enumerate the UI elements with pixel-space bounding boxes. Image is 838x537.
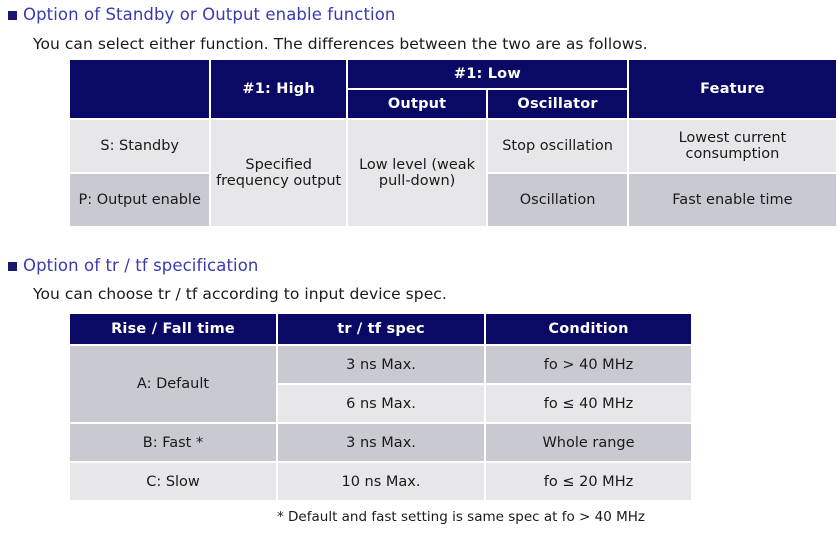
cell-low-oscillator-output-enable: Oscillation: [488, 174, 627, 226]
table-header: #1: High #1: Low Feature Output Oscillat…: [70, 60, 836, 118]
cell-condition-default-low: fo ≤ 40 MHz: [486, 385, 691, 422]
section-subtitle-standby: You can select either function. The diff…: [33, 35, 648, 53]
section-heading-label: Option of tr / tf specification: [23, 256, 258, 275]
header-tr-tf-spec: tr / tf spec: [278, 314, 484, 344]
table-body: S: Standby Specified frequency output Lo…: [70, 120, 836, 226]
cell-high-standby: Specified frequency output: [211, 120, 346, 226]
cell-rise-fall-slow: C: Slow: [70, 463, 276, 500]
slide-page: Option of Standby or Output enable funct…: [0, 0, 838, 537]
section-heading-trtf: Option of tr / tf specification: [8, 256, 258, 275]
table-row: C: Slow 10 ns Max. fo ≤ 20 MHz: [70, 463, 691, 500]
header-low-group: #1: Low: [348, 60, 627, 88]
header-high: #1: High: [211, 60, 346, 118]
standby-output-enable-table: #1: High #1: Low Feature Output Oscillat…: [68, 58, 838, 228]
section-heading-label: Option of Standby or Output enable funct…: [23, 5, 396, 24]
cell-spec-default-low: 6 ns Max.: [278, 385, 484, 422]
cell-rise-fall-default: A: Default: [70, 346, 276, 422]
table-header: Rise / Fall time tr / tf spec Condition: [70, 314, 691, 344]
table-body: A: Default 3 ns Max. fo > 40 MHz 6 ns Ma…: [70, 346, 691, 500]
square-bullet-icon: [8, 11, 17, 20]
cell-low-output-standby: Low level (weak pull-down): [348, 120, 486, 226]
cell-condition-fast: Whole range: [486, 424, 691, 461]
header-blank: [70, 60, 209, 118]
header-low-output: Output: [348, 90, 486, 118]
square-bullet-icon: [8, 262, 17, 271]
cell-condition-default-high: fo > 40 MHz: [486, 346, 691, 383]
footnote-text: * Default and fast setting is same spec …: [277, 509, 645, 525]
cell-spec-slow: 10 ns Max.: [278, 463, 484, 500]
header-rise-fall-time: Rise / Fall time: [70, 314, 276, 344]
section-subtitle-trtf: You can choose tr / tf according to inpu…: [33, 285, 447, 303]
table-row: A: Default 3 ns Max. fo > 40 MHz: [70, 346, 691, 383]
cell-spec-fast: 3 ns Max.: [278, 424, 484, 461]
header-condition: Condition: [486, 314, 691, 344]
rise-fall-time-table: Rise / Fall time tr / tf spec Condition …: [68, 312, 693, 502]
table-row: S: Standby Specified frequency output Lo…: [70, 120, 836, 172]
table-header-row-1: #1: High #1: Low Feature: [70, 60, 836, 88]
header-low-oscillator: Oscillator: [488, 90, 627, 118]
cell-feature-output-enable: Fast enable time: [629, 174, 836, 226]
table-header-row: Rise / Fall time tr / tf spec Condition: [70, 314, 691, 344]
cell-condition-slow: fo ≤ 20 MHz: [486, 463, 691, 500]
section-heading-standby: Option of Standby or Output enable funct…: [8, 5, 396, 24]
cell-option-standby: S: Standby: [70, 120, 209, 172]
cell-feature-standby: Lowest current consumption: [629, 120, 836, 172]
cell-rise-fall-fast: B: Fast *: [70, 424, 276, 461]
cell-spec-default-high: 3 ns Max.: [278, 346, 484, 383]
header-feature: Feature: [629, 60, 836, 118]
cell-option-output-enable: P: Output enable: [70, 174, 209, 226]
table-row: B: Fast * 3 ns Max. Whole range: [70, 424, 691, 461]
cell-low-oscillator-standby: Stop oscillation: [488, 120, 627, 172]
